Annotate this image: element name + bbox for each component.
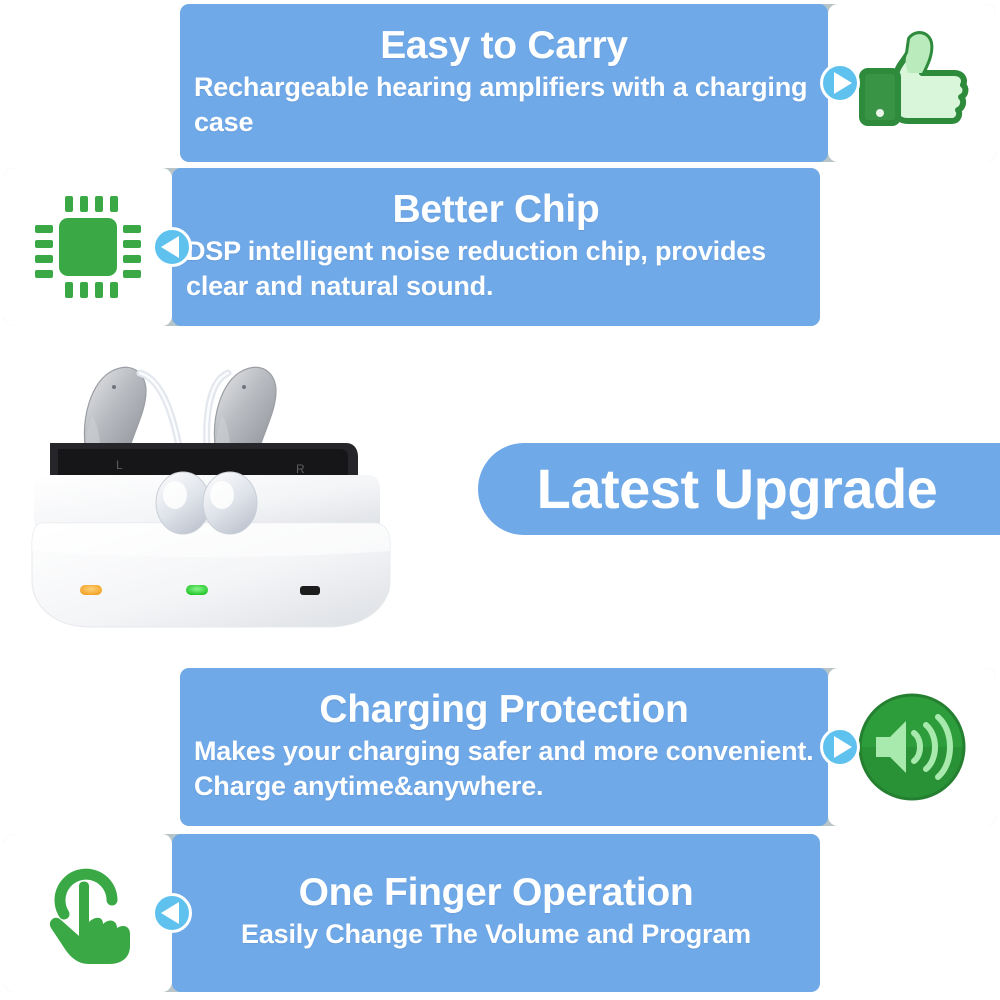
tap-finger-icon <box>31 856 145 970</box>
feature-panel-charging-protection: Charging Protection Makes your charging … <box>180 668 828 826</box>
feature-panel-one-finger-operation: One Finger Operation Easily Change The V… <box>172 834 820 992</box>
feature-title: Easy to Carry <box>194 25 814 66</box>
speaker-volume-icon <box>856 691 968 803</box>
feature-panel-easy-to-carry: Easy to Carry Rechargeable hearing ampli… <box>180 4 828 162</box>
product-illustration: L R <box>28 345 418 645</box>
infographic-canvas: Easy to Carry Rechargeable hearing ampli… <box>0 0 1000 1000</box>
feature-row-better-chip: Better Chip DSP intelligent noise reduct… <box>4 168 820 326</box>
feature-row-easy-to-carry: Easy to Carry Rechargeable hearing ampli… <box>180 4 996 162</box>
feature-row-charging-protection: Charging Protection Makes your charging … <box>180 668 996 826</box>
latest-upgrade-label: Latest Upgrade <box>537 461 938 517</box>
feature-row-one-finger-operation: One Finger Operation Easily Change The V… <box>4 834 820 992</box>
slot-label-left: L <box>116 458 123 472</box>
feature-title: One Finger Operation <box>186 872 806 913</box>
play-arrow-right-icon <box>820 63 860 103</box>
feature-panel-better-chip: Better Chip DSP intelligent noise reduct… <box>172 168 820 326</box>
feature-title: Better Chip <box>186 189 806 230</box>
play-arrow-right-icon <box>820 727 860 767</box>
charging-led-orange <box>80 585 102 595</box>
thumbs-up-icon <box>848 27 976 139</box>
slot-label-right: R <box>296 462 305 476</box>
feature-description: Easily Change The Volume and Program <box>186 917 806 952</box>
feature-description: Rechargeable hearing amplifiers with a c… <box>194 70 814 139</box>
feature-description: Makes your charging safer and more conve… <box>194 734 814 803</box>
power-led-green <box>186 585 208 595</box>
icon-card-cpu-chip <box>4 168 172 326</box>
hearing-aid-charging-case-photo: L R <box>28 345 418 645</box>
play-arrow-left-icon <box>152 893 192 933</box>
cpu-chip-icon <box>29 188 147 306</box>
play-arrow-left-icon <box>152 227 192 267</box>
ear-dome-left <box>156 472 210 534</box>
feature-description: DSP intelligent noise reduction chip, pr… <box>186 234 806 303</box>
charging-port <box>300 586 320 595</box>
feature-title: Charging Protection <box>194 689 814 730</box>
ear-dome-right <box>203 472 257 534</box>
latest-upgrade-banner: Latest Upgrade <box>478 443 1000 535</box>
icon-card-tap-finger <box>4 834 172 992</box>
